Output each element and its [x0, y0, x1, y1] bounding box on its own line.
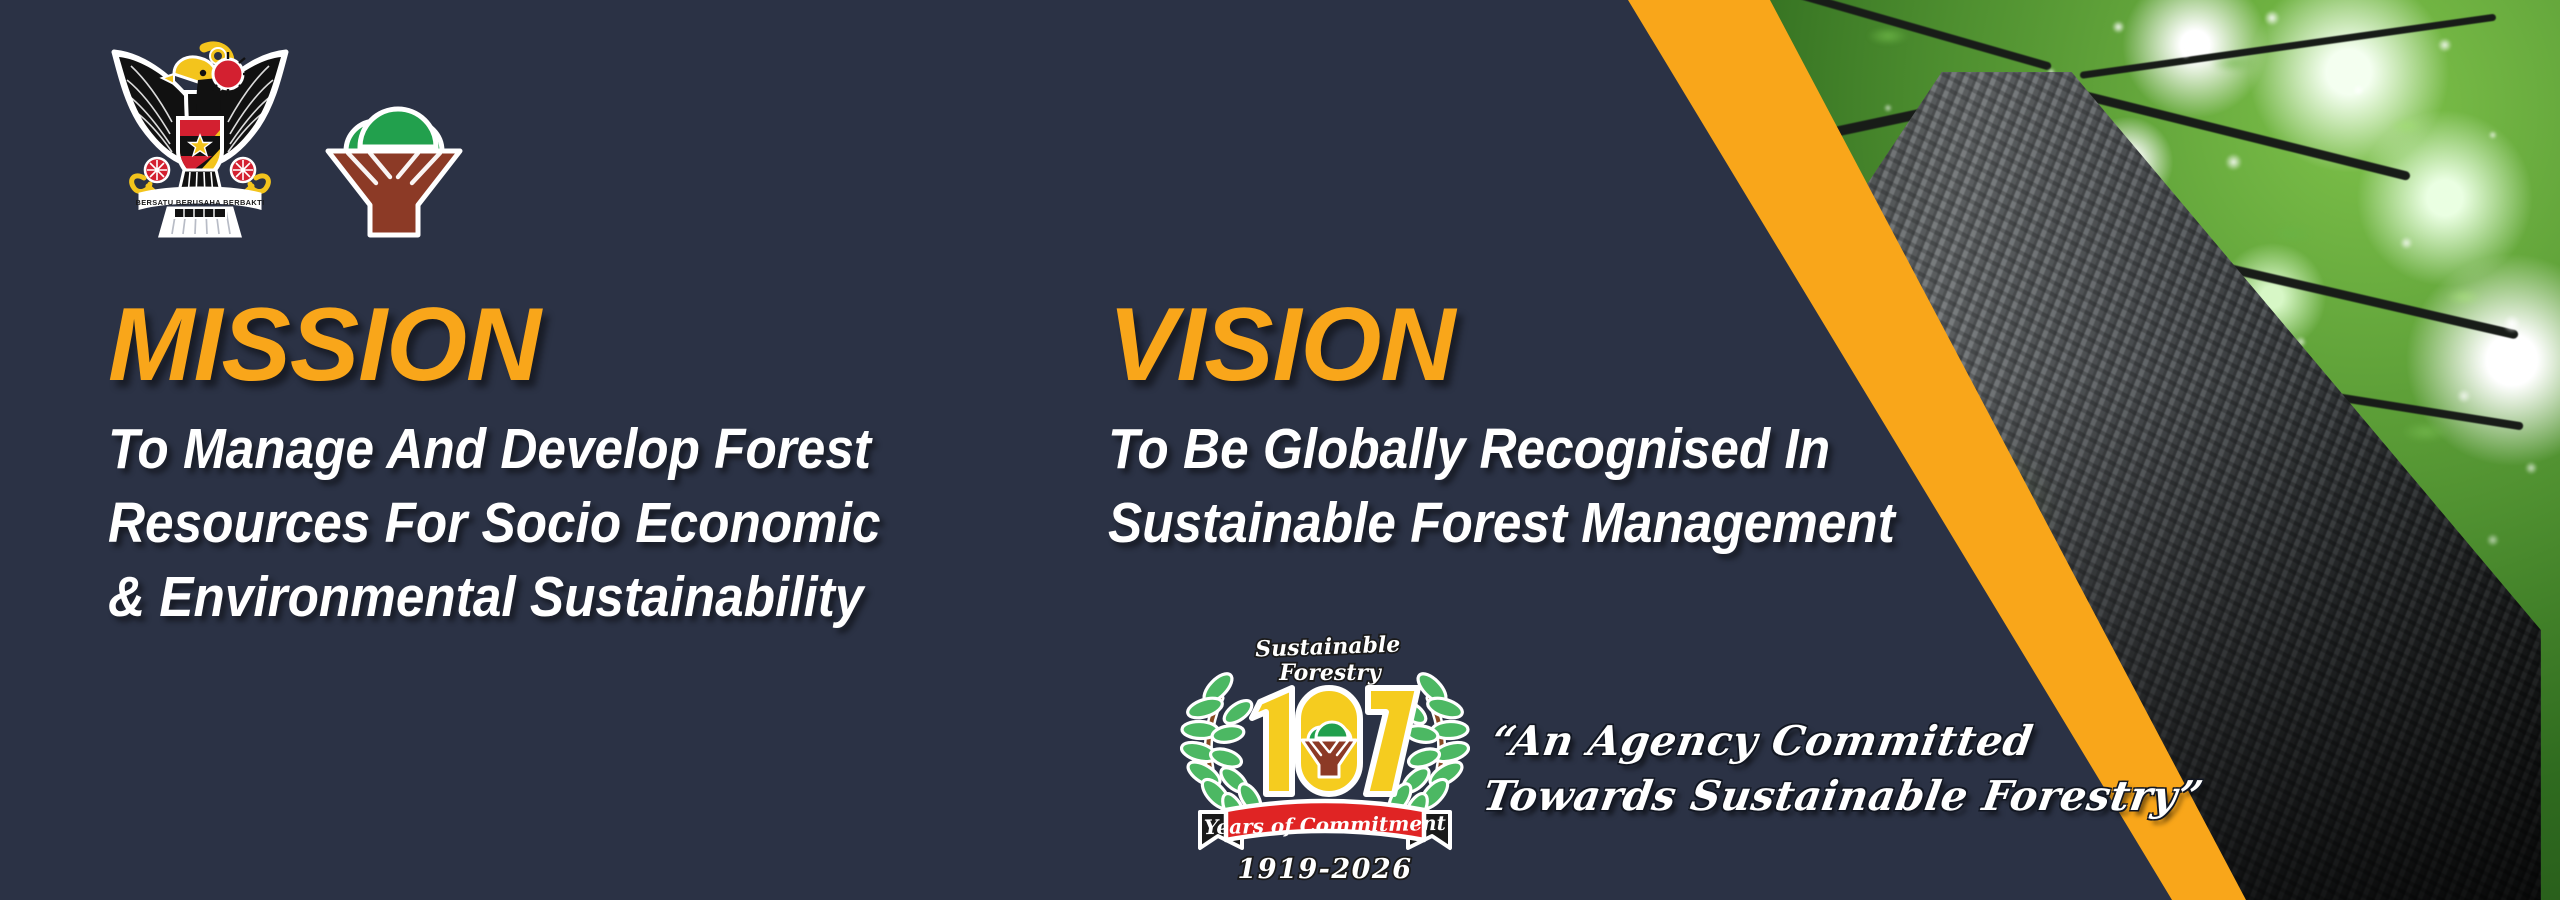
vision-line-1: To Be Globally Recognised In [1108, 412, 2053, 486]
tagline-line-2: Towards Sustainable Forestry” [1479, 769, 2128, 824]
mission-line-3: & Environmental Sustainability [108, 560, 1008, 634]
anniversary-area: Sustainable Forestry [1180, 616, 2128, 900]
mission-block: MISSION To Manage And Develop Forest Res… [108, 292, 1108, 634]
badge-top-line-2: Forestry [1278, 660, 1383, 686]
vision-line-2: Sustainable Forest Management [1108, 486, 2053, 560]
forest-department-sarawak-logo-icon [314, 53, 474, 243]
agency-tagline: “An Agency Committed Towards Sustainable… [1479, 714, 2136, 824]
badge-ribbon-text: Years of Commitment [1204, 811, 1447, 839]
logo-row: BERSATU BERUSAHA BERBAKTI [100, 18, 474, 243]
sarawak-coat-of-arms-icon: BERSATU BERUSAHA BERBAKTI [100, 18, 300, 243]
branch-icon [1647, 162, 1832, 249]
badge-top-line-1: Sustainable [1255, 631, 1401, 662]
coat-of-arms-motto: BERSATU BERUSAHA BERBAKTI [135, 198, 264, 207]
mission-line-2: Resources For Socio Economic [108, 486, 1008, 560]
vision-block: VISION To Be Globally Recognised In Sust… [1108, 292, 2158, 560]
badge-year-range: 1919-2026 [1238, 854, 1413, 885]
mission-vision-banner: BERSATU BERUSAHA BERBAKTI [0, 0, 2560, 900]
mission-heading: MISSION [108, 292, 1108, 398]
mission-line-1: To Manage And Develop Forest [108, 412, 1008, 486]
tagline-line-1: “An Agency Committed [1488, 714, 2137, 769]
anniversary-badge-107-icon: Sustainable Forestry [1180, 616, 1470, 900]
vision-heading: VISION [1108, 292, 2158, 398]
